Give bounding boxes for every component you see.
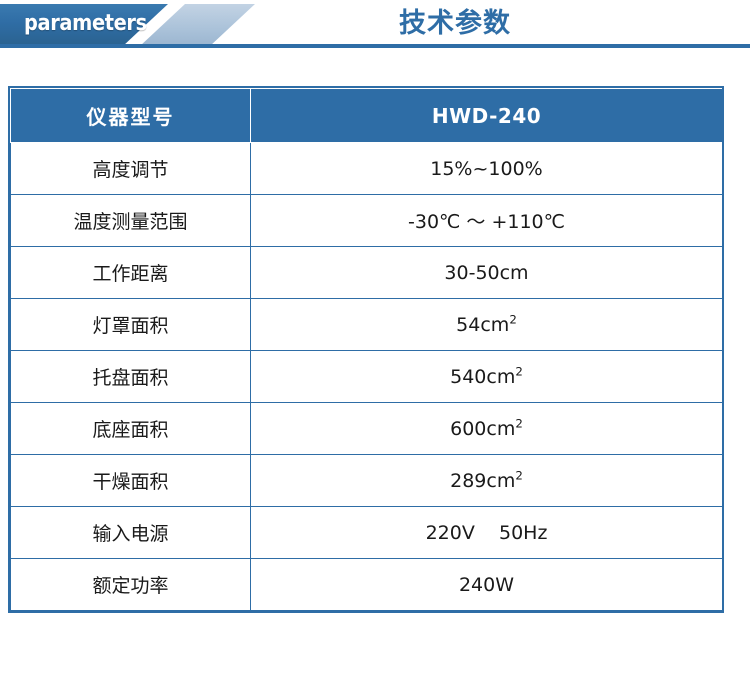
table-cell-value: -30℃ ～ +110℃ — [251, 195, 723, 247]
table-cell-label: 托盘面积 — [11, 351, 251, 403]
spec-table: 仪器型号 HWD-240 高度调节15%~100%温度测量范围-30℃ ～ +1… — [10, 88, 723, 611]
table-cell-label: 工作距离 — [11, 247, 251, 299]
table-cell-value: 54cm2 — [251, 299, 723, 351]
table-cell-label: 额定功率 — [11, 559, 251, 611]
table-row: 底座面积600cm2 — [11, 403, 723, 455]
table-cell-value: 240W — [251, 559, 723, 611]
table-row: 灯罩面积54cm2 — [11, 299, 723, 351]
table-cell-value: 600cm2 — [251, 403, 723, 455]
spec-table-body: 仪器型号 HWD-240 高度调节15%~100%温度测量范围-30℃ ～ +1… — [11, 89, 723, 611]
unit-superscript: 2 — [515, 468, 523, 482]
page-title: 技术参数 — [280, 6, 630, 42]
table-cell-value: 289cm2 — [251, 455, 723, 507]
table-cell-value: 220V 50Hz — [251, 507, 723, 559]
spec-table-wrapper: 仪器型号 HWD-240 高度调节15%~100%温度测量范围-30℃ ～ +1… — [10, 88, 722, 611]
table-header-label-cell: 仪器型号 — [11, 89, 251, 143]
table-cell-label: 输入电源 — [11, 507, 251, 559]
table-cell-value: 15%~100% — [251, 143, 723, 195]
table-row: 托盘面积540cm2 — [11, 351, 723, 403]
unit-superscript: 2 — [515, 364, 523, 378]
table-row: 额定功率240W — [11, 559, 723, 611]
table-cell-value: 30-50cm — [251, 247, 723, 299]
banner-underline-rule — [0, 44, 750, 48]
table-header-row: 仪器型号 HWD-240 — [11, 89, 723, 143]
table-row: 高度调节15%~100% — [11, 143, 723, 195]
table-cell-label: 干燥面积 — [11, 455, 251, 507]
table-row: 温度测量范围-30℃ ～ +110℃ — [11, 195, 723, 247]
table-row: 工作距离30-50cm — [11, 247, 723, 299]
table-header-value-cell: HWD-240 — [251, 89, 723, 143]
table-cell-label: 底座面积 — [11, 403, 251, 455]
unit-superscript: 2 — [515, 416, 523, 430]
table-cell-label: 温度测量范围 — [11, 195, 251, 247]
page-header-banner: parameters 技术参数 — [0, 0, 750, 60]
banner-label: parameters — [24, 9, 147, 39]
table-cell-label: 灯罩面积 — [11, 299, 251, 351]
unit-superscript: 2 — [509, 312, 517, 326]
table-cell-value: 540cm2 — [251, 351, 723, 403]
table-row: 干燥面积289cm2 — [11, 455, 723, 507]
table-cell-label: 高度调节 — [11, 143, 251, 195]
table-row: 输入电源220V 50Hz — [11, 507, 723, 559]
